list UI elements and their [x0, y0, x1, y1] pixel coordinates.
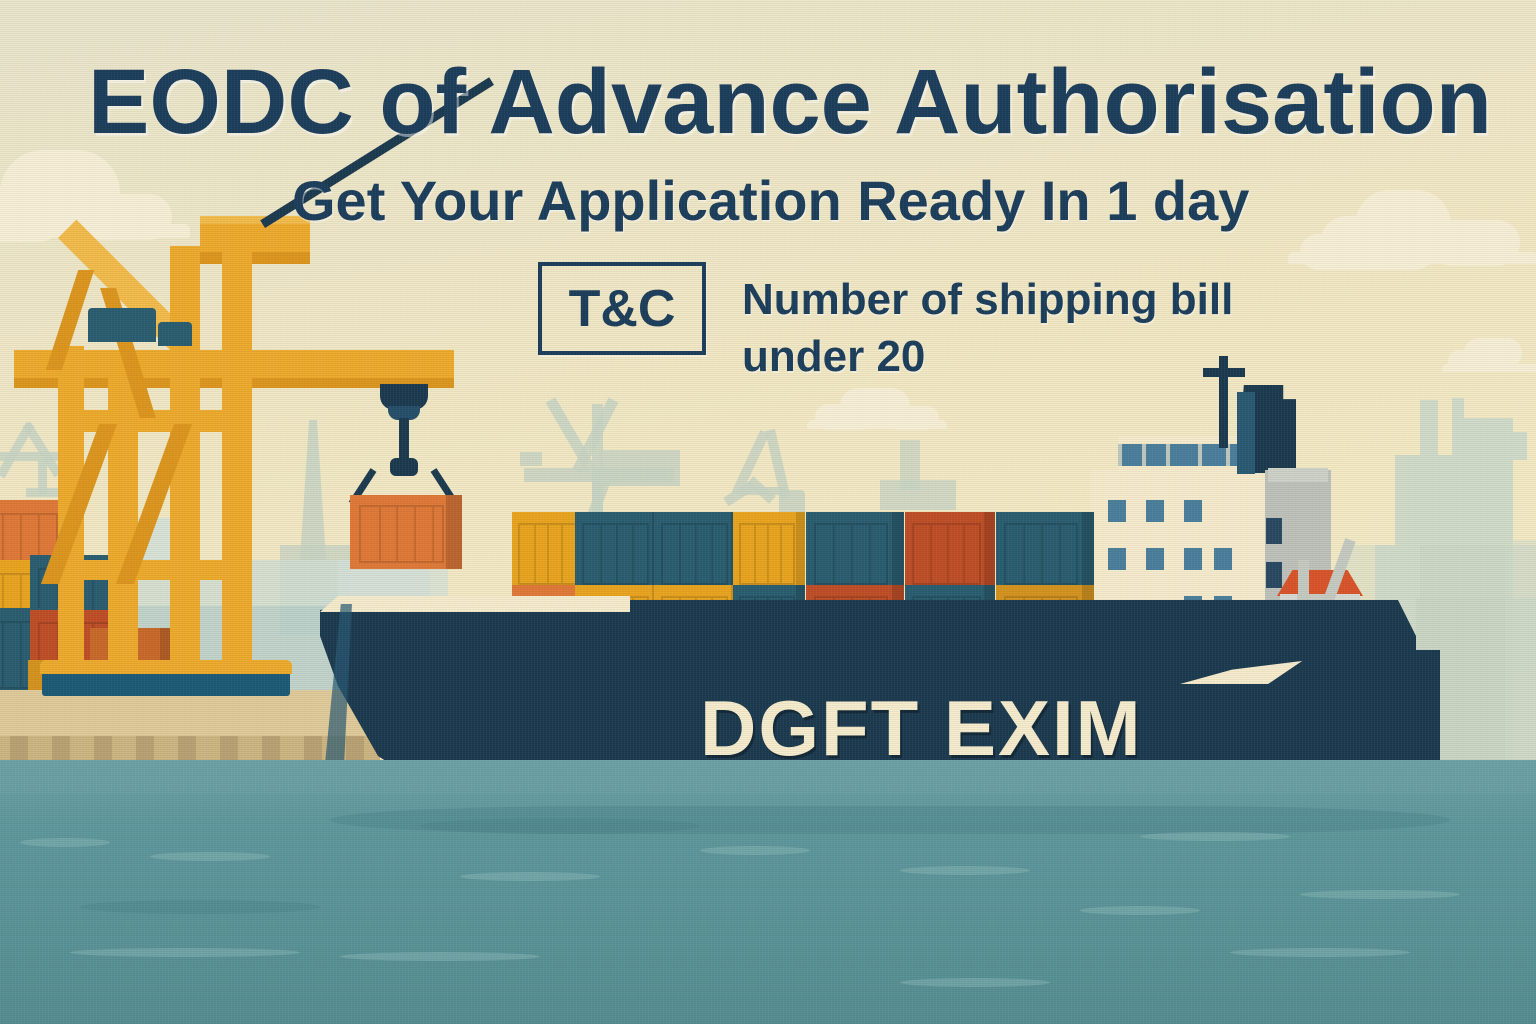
terms-badge-label: T&C [569, 279, 676, 339]
skyline-chimney [1452, 398, 1464, 548]
condition-line-2: under 20 [742, 332, 925, 382]
water-band-top [0, 760, 1536, 794]
crane-leg-2 [108, 350, 138, 690]
page-subtitle: Get Your Application Ready In 1 day [292, 168, 1249, 233]
deck-container [654, 512, 742, 592]
deck-container [806, 512, 904, 592]
deck-container [575, 512, 663, 592]
skyline-block-2 [1420, 400, 1438, 470]
deck-container [733, 512, 805, 592]
suspended-container [350, 495, 462, 569]
skyline-block-9 [1505, 540, 1536, 760]
condition-line-1: Number of shipping bill [742, 275, 1233, 325]
skyline-block-4 [1497, 432, 1527, 460]
deck-container [905, 512, 995, 592]
quay-deck [0, 690, 380, 736]
ship-bow-rail [320, 596, 630, 612]
crane-leg-4 [222, 250, 252, 690]
deck-container [996, 512, 1094, 592]
poster-banner: DGFT EXIM EODC of Advance Authorisation … [0, 0, 1536, 1024]
background-block-right-mid2 [900, 440, 920, 490]
page-title: EODC of Advance Authorisation [88, 50, 1492, 155]
terms-badge[interactable]: T&C [538, 262, 706, 355]
